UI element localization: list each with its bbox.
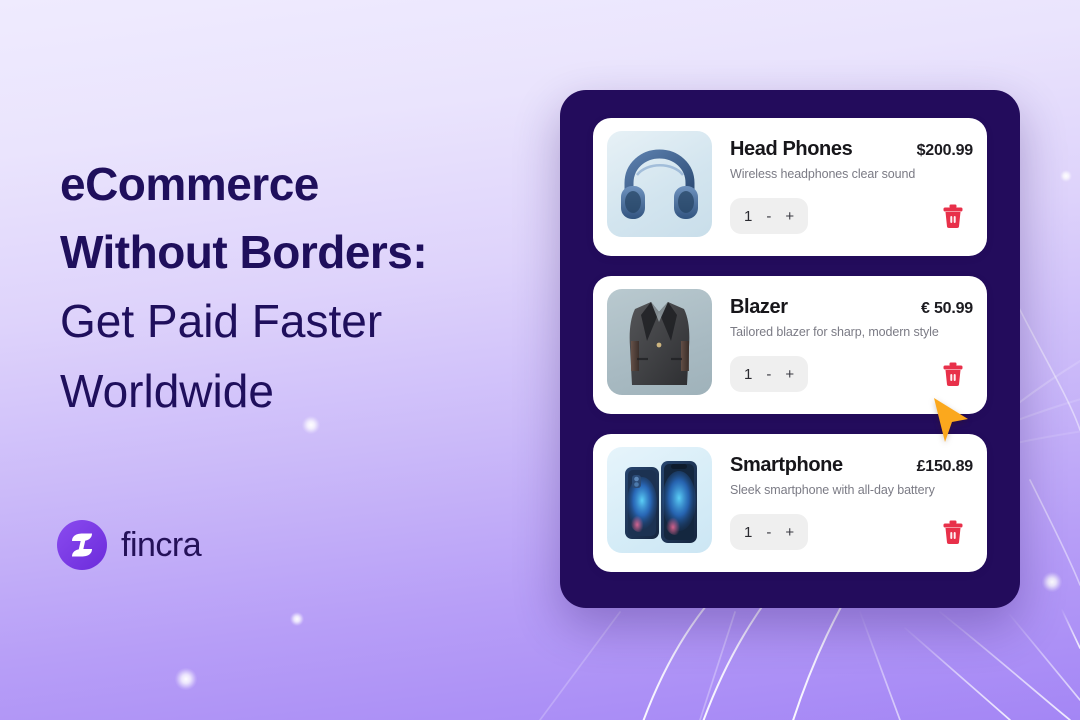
product-price: € 50.99 [921, 300, 973, 318]
cart-item-info: Blazer € 50.99 Tailored blazer for sharp… [712, 289, 973, 401]
headline-line-4: Worldwide [60, 356, 530, 426]
trash-icon[interactable] [941, 361, 965, 387]
increment-button[interactable]: + [785, 524, 794, 541]
fincra-swoosh-icon [57, 520, 107, 570]
cart-item-info: Head Phones $200.99 Wireless headphones … [712, 131, 973, 243]
product-name: Smartphone [730, 454, 843, 477]
headline-line-1: eCommerce [60, 150, 530, 218]
product-description: Tailored blazer for sharp, modern style [730, 325, 973, 339]
cart-item-card[interactable]: Smartphone £150.89 Sleek smartphone with… [593, 434, 987, 572]
brand-name: fincra [121, 526, 201, 565]
quantity-stepper[interactable]: 1 - + [730, 356, 808, 392]
headline-line-2: Without Borders: [60, 218, 530, 286]
product-price: $200.99 [917, 142, 973, 160]
headphones-image [607, 131, 712, 237]
trash-icon[interactable] [941, 519, 965, 545]
trash-icon[interactable] [941, 203, 965, 229]
hero-copy: eCommerce Without Borders: Get Paid Fast… [60, 150, 530, 426]
quantity-value: 1 [744, 524, 752, 541]
product-description: Sleek smartphone with all-day battery [730, 483, 973, 497]
cart-item-card[interactable]: Head Phones $200.99 Wireless headphones … [593, 118, 987, 256]
decrement-button[interactable]: - [766, 524, 771, 541]
quantity-stepper[interactable]: 1 - + [730, 514, 808, 550]
product-name: Head Phones [730, 138, 852, 161]
headline-line-3: Get Paid Faster [60, 286, 530, 356]
decrement-button[interactable]: - [766, 366, 771, 383]
decrement-button[interactable]: - [766, 208, 771, 225]
brand-logo: fincra [57, 520, 201, 570]
smartphone-image [607, 447, 712, 553]
increment-button[interactable]: + [785, 366, 794, 383]
cart-item-list: Head Phones $200.99 Wireless headphones … [593, 118, 987, 572]
cart-item-card[interactable]: Blazer € 50.99 Tailored blazer for sharp… [593, 276, 987, 414]
product-price: £150.89 [917, 458, 973, 476]
product-name: Blazer [730, 296, 788, 319]
quantity-value: 1 [744, 208, 752, 225]
product-description: Wireless headphones clear sound [730, 167, 973, 181]
quantity-stepper[interactable]: 1 - + [730, 198, 808, 234]
quantity-value: 1 [744, 366, 752, 383]
blazer-image [607, 289, 712, 395]
cart-item-info: Smartphone £150.89 Sleek smartphone with… [712, 447, 973, 559]
cart-panel: Head Phones $200.99 Wireless headphones … [560, 90, 1020, 608]
increment-button[interactable]: + [785, 208, 794, 225]
